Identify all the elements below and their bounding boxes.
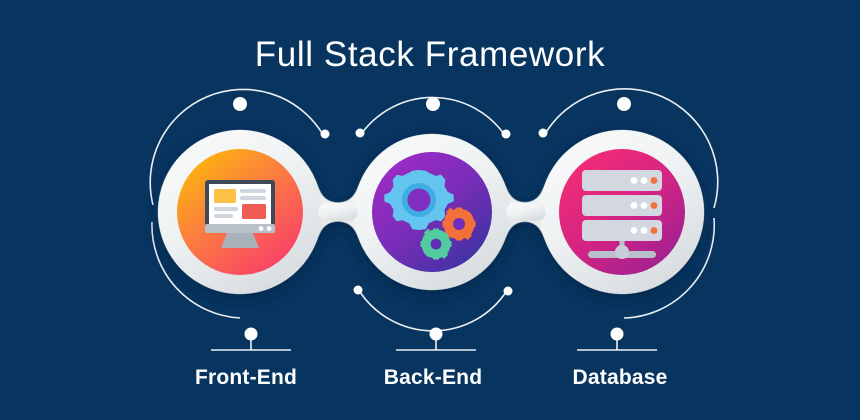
node-label-back-end: Back-End	[384, 366, 482, 389]
stem-group-front-end: Front-End	[195, 328, 297, 390]
arc-apex-dot-back-end	[426, 97, 440, 111]
connector-bridge-1	[318, 203, 358, 221]
server-unit-2-led-1	[631, 202, 638, 209]
monitor-indicator-1	[259, 226, 264, 231]
server-unit-2	[582, 195, 662, 216]
bottom-arc-group-back-end	[354, 286, 513, 331]
server-unit-2-led-3	[651, 202, 658, 209]
server-unit-3-led-3	[651, 227, 658, 234]
arc-apex-dot-database	[617, 97, 631, 111]
arc-start-dot-database	[539, 129, 548, 138]
monitor-stand	[221, 233, 259, 248]
arc-start-dot-back-end	[356, 129, 365, 138]
connector-bridge-2	[506, 203, 546, 221]
server-unit-3	[582, 220, 662, 241]
monitor-base-bar	[205, 224, 275, 233]
monitor-line-1	[240, 189, 266, 193]
top-arc-group-back-end	[356, 97, 511, 139]
server-unit-1-led-2	[641, 177, 648, 184]
page-title: Full Stack Framework	[255, 35, 605, 74]
infographic-canvas: Full Stack Framework	[0, 0, 860, 420]
gear-large-hole	[408, 189, 431, 212]
monitor-indicator-2	[267, 226, 272, 231]
node-label-front-end: Front-End	[195, 366, 297, 389]
server-unit-1-led-3	[651, 177, 658, 184]
gear-small-green-hole	[431, 239, 442, 250]
bottom-arc-back-end	[360, 292, 506, 331]
node-label-database: Database	[573, 366, 668, 389]
server-unit-1	[582, 170, 662, 191]
server-unit-3-led-2	[641, 227, 648, 234]
gear-small-orange-hole	[453, 218, 465, 230]
server-unit-1-led-1	[631, 177, 638, 184]
full-stack-framework-diagram: Full Stack Framework	[0, 0, 860, 420]
bottom-arc-start-dot-back-end	[354, 286, 363, 295]
server-unit-2-led-2	[641, 202, 648, 209]
monitor-line-3	[214, 207, 238, 211]
arc-end-dot-back-end	[502, 130, 511, 139]
monitor-block-yellow	[214, 189, 236, 203]
arc-end-dot-front-end	[321, 130, 330, 139]
bottom-arc-end-dot-back-end	[504, 287, 513, 296]
monitor-block-red	[242, 204, 266, 219]
monitor-line-2	[240, 196, 266, 200]
server-unit-3-led-1	[631, 227, 638, 234]
stem-group-database: Database	[573, 328, 668, 390]
stem-group-back-end: Back-End	[384, 328, 482, 390]
monitor-line-4	[214, 214, 233, 218]
server-stand-hub	[615, 245, 629, 259]
arc-apex-dot-front-end	[233, 97, 247, 111]
